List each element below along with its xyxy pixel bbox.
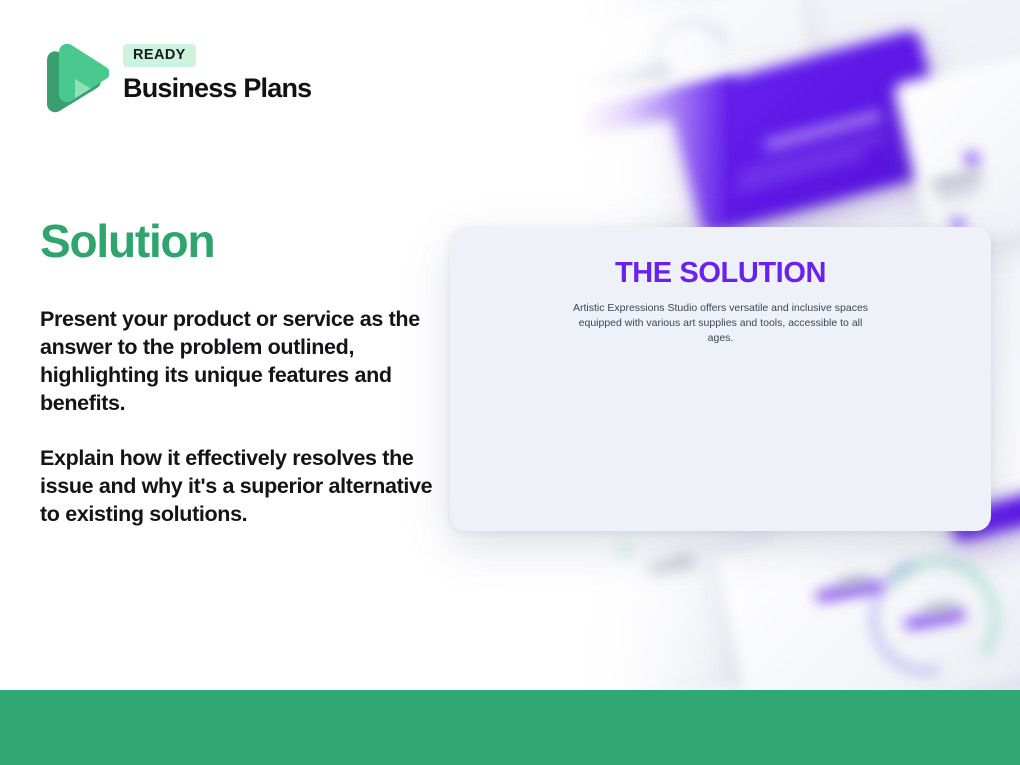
- slide-root: READY Business Plans Solution Present yo…: [0, 0, 1020, 765]
- footer-accent-bar: [0, 690, 1020, 765]
- double-play-triangle-logo-icon: [41, 40, 109, 118]
- body-paragraph-2: Explain how it effectively resolves the …: [40, 444, 440, 528]
- page-title: Solution: [40, 214, 214, 268]
- mock-accent-bar-1: [580, 77, 741, 143]
- ready-badge: READY: [123, 44, 196, 67]
- brand-name: Business Plans: [123, 73, 311, 104]
- mock-ring-1: [639, 5, 743, 109]
- mock-dot-green: [613, 541, 631, 559]
- node-connector-lines: [450, 227, 991, 531]
- solution-preview-card[interactable]: THE SOLUTION Artistic Expressions Studio…: [450, 227, 991, 531]
- body-copy: Present your product or service as the a…: [40, 305, 440, 528]
- mock-text-bar-7: [645, 552, 695, 577]
- brand-wordmark: READY Business Plans: [123, 40, 311, 104]
- mock-text-bar-1: [580, 63, 670, 99]
- body-paragraph-1: Present your product or service as the a…: [40, 305, 440, 417]
- brand-logo-block[interactable]: READY Business Plans: [41, 40, 311, 118]
- mock-dot-1: [965, 152, 979, 166]
